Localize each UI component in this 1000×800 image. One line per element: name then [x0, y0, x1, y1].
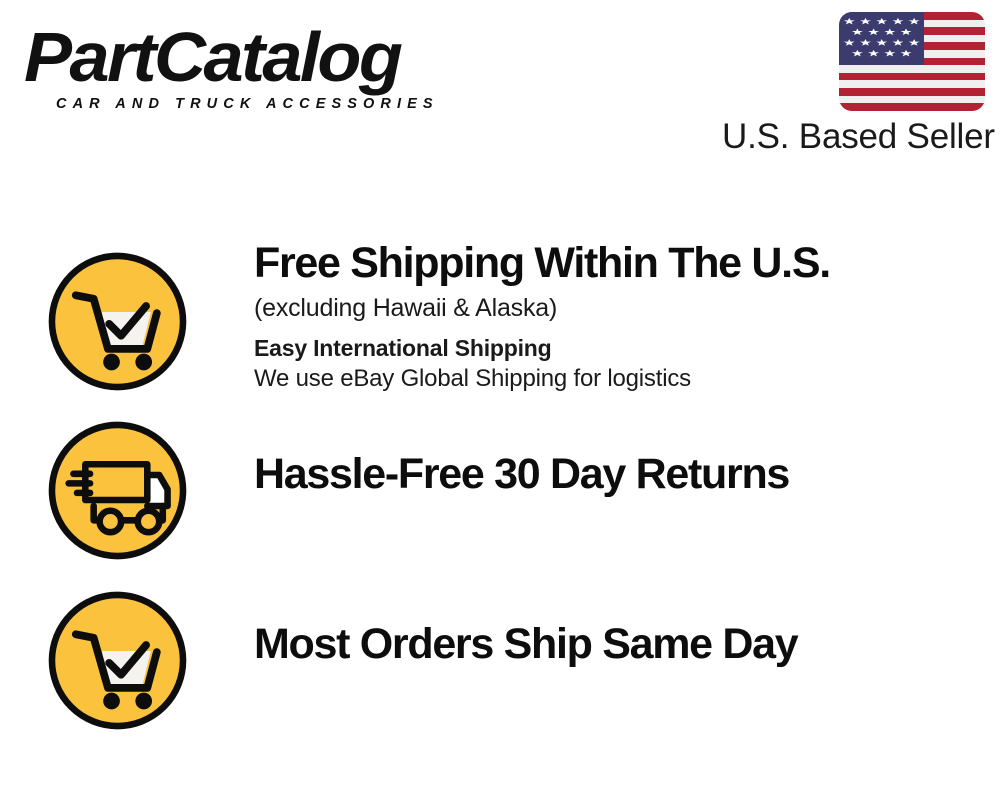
feature-text: Hassle-Free 30 Day Returns — [189, 413, 1000, 499]
feature-list: Free Shipping Within The U.S. (excluding… — [0, 238, 1000, 753]
list-item: Hassle-Free 30 Day Returns — [0, 413, 1000, 583]
feature-subtitle-bold: Easy International Shipping — [254, 333, 1000, 363]
flag-stripe — [839, 103, 985, 111]
feature-detail: We use eBay Global Shipping for logistic… — [254, 364, 1000, 394]
flag-stripe — [839, 88, 985, 96]
shopping-cart-check-icon — [46, 589, 189, 732]
feature-title: Hassle-Free 30 Day Returns — [254, 449, 1000, 499]
us-based-seller-label: U.S. Based Seller — [722, 117, 987, 157]
promo-banner: PartCatalog CAR AND TRUCK ACCESSORIES — [0, 0, 1000, 800]
feature-text: Most Orders Ship Same Day — [189, 583, 1000, 669]
brand-wordmark: PartCatalog — [24, 22, 508, 92]
brand-tagline: CAR AND TRUCK ACCESSORIES — [56, 96, 494, 112]
flag-stripe — [839, 73, 985, 81]
shopping-cart-check-icon — [46, 250, 189, 393]
flag-stripe — [839, 96, 985, 104]
feature-text: Free Shipping Within The U.S. (excluding… — [189, 238, 1000, 394]
feature-subtitle: (excluding Hawaii & Alaska) — [254, 292, 1000, 325]
feature-title: Free Shipping Within The U.S. — [254, 238, 1000, 288]
flag-canton — [839, 12, 924, 65]
us-flag-icon — [839, 12, 985, 111]
list-item: Free Shipping Within The U.S. (excluding… — [0, 238, 1000, 413]
brand-logo[interactable]: PartCatalog CAR AND TRUCK ACCESSORIES — [24, 22, 494, 117]
feature-title: Most Orders Ship Same Day — [254, 619, 1000, 669]
delivery-truck-icon — [46, 419, 189, 562]
list-item: Most Orders Ship Same Day — [0, 583, 1000, 753]
flag-stripe — [839, 65, 985, 73]
flag-stripe — [839, 80, 985, 88]
